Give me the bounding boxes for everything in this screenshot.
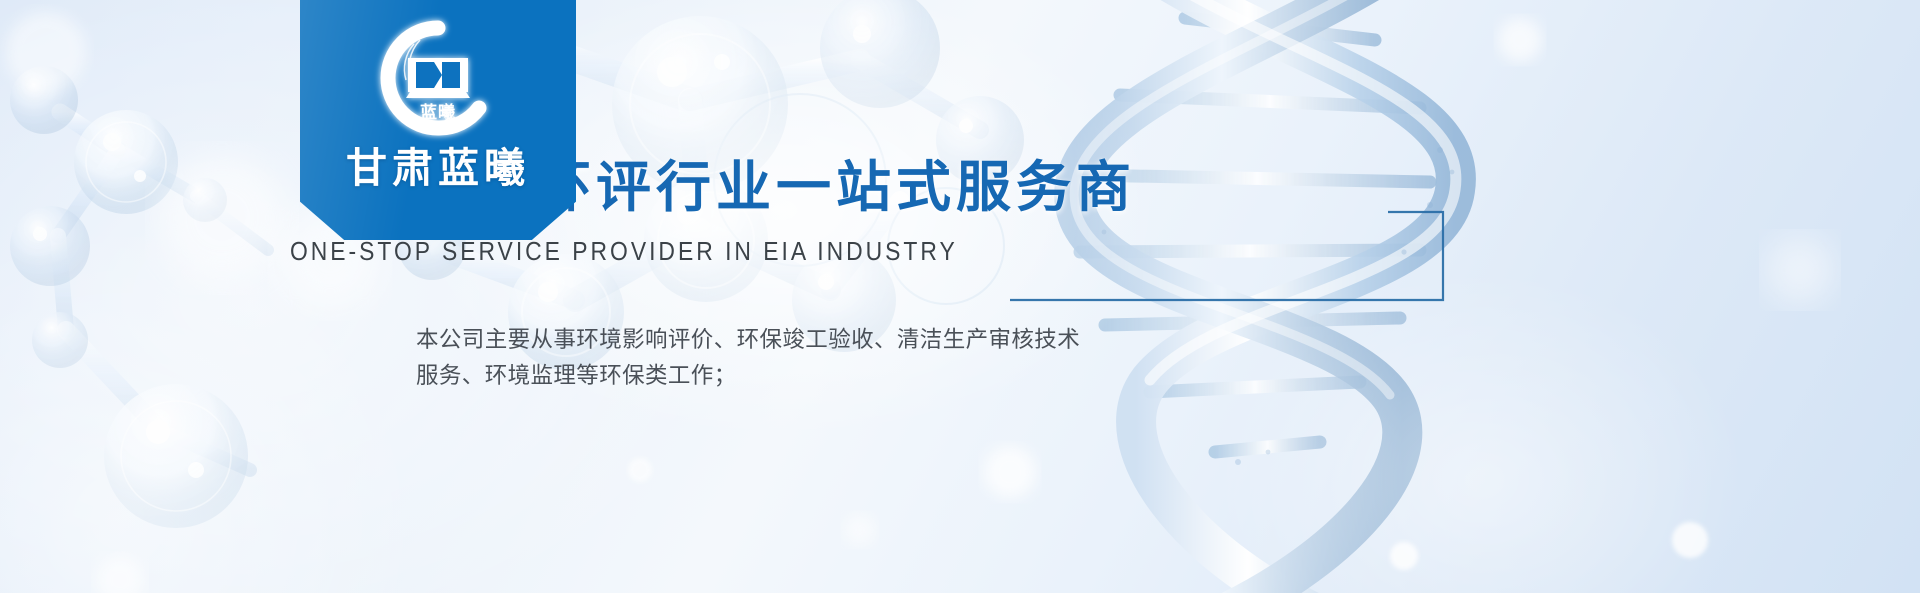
brand-ribbon-tag: 蓝曦 甘肃蓝曦 (300, 0, 576, 240)
tag-company-name: 甘肃蓝曦 (300, 134, 576, 194)
page-title: 环评行业一站式服务商 (536, 142, 1136, 222)
light-wash-overlay (0, 0, 1920, 593)
paragraph-line-2: 服务、环境监理等环保类工作； (416, 358, 1226, 394)
paragraph-line-1: 本公司主要从事环境影响评价、环保竣工验收、清洁生产审核技术 (416, 322, 1226, 358)
connector-bracket (0, 0, 1920, 593)
subtitle-english: ONE-STOP SERVICE PROVIDER IN EIA INDUSTR… (290, 236, 958, 267)
background-artwork (0, 0, 1920, 593)
molecule-cluster-left (10, 66, 268, 528)
hero-banner: 蓝曦 甘肃蓝曦 环评行业一站式服务商 ONE-STOP SERVICE PROV… (0, 0, 1920, 593)
lanxi-circular-emblem-icon: 蓝曦 (364, 14, 512, 150)
svg-text:蓝曦: 蓝曦 (420, 102, 456, 123)
description-paragraph: 本公司主要从事环境影响评价、环保竣工验收、清洁生产审核技术 服务、环境监理等环保… (416, 322, 1226, 395)
bokeh-highlights (6, 12, 1834, 593)
dna-double-helix-right (1074, 0, 1456, 593)
